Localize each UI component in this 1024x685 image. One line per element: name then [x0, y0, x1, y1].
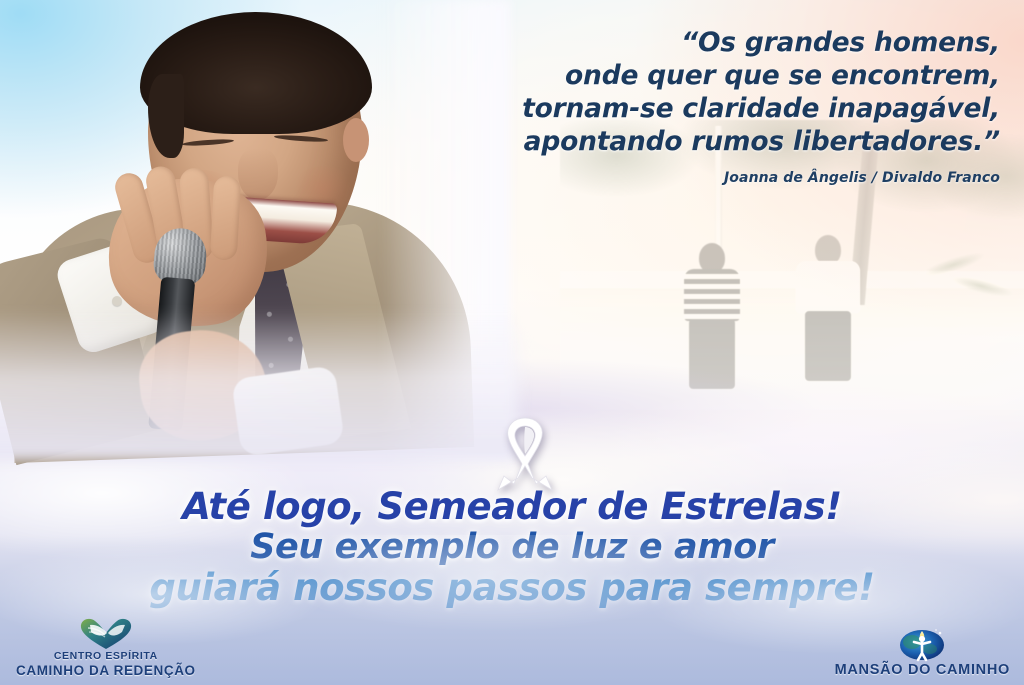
quote-block: “Os grandes homens, onde quer que se enc…	[440, 26, 1000, 186]
headline-line-1: Até logo, Semeador de Estrelas!	[0, 486, 1024, 527]
person-legs	[805, 311, 851, 381]
nose	[238, 148, 278, 200]
person-striped-shirt	[682, 243, 742, 393]
quote-author: Joanna de Ângelis / Divaldo Franco	[440, 170, 1000, 186]
logo-mansao-do-caminho[interactable]: MANSÃO DO CAMINHO	[835, 622, 1010, 679]
hands-heart-icon	[78, 616, 134, 650]
globe-figure-flame-icon	[896, 622, 948, 662]
quote-line-1: “Os grandes homens,	[440, 26, 1000, 59]
quote-line-4: apontando rumos libertadores.”	[440, 125, 1000, 158]
cuff-button	[112, 296, 122, 306]
logo-left-line-1: CENTRO ESPÍRITA	[54, 650, 158, 663]
person-torso	[796, 261, 860, 313]
logo-centro-espirita[interactable]: CENTRO ESPÍRITA CAMINHO DA REDENÇÃO	[16, 616, 196, 679]
portrait-bottom-fade	[0, 310, 520, 460]
logo-left-line-2: CAMINHO DA REDENÇÃO	[16, 663, 196, 679]
portrait-divaldo-franco	[0, 0, 500, 450]
ear	[343, 118, 369, 162]
person-torso	[684, 269, 740, 321]
logo-right-line-2: MANSÃO DO CAMINHO	[835, 662, 1010, 679]
finger	[210, 175, 241, 260]
quote-line-2: onde quer que se encontrem,	[440, 59, 1000, 92]
quote-line-3: tornam-se claridade inapagável,	[440, 92, 1000, 125]
mourning-ribbon-icon	[484, 412, 566, 496]
person-legs	[689, 319, 735, 389]
hair	[140, 12, 372, 134]
person-white-shirt	[795, 235, 861, 393]
memorial-poster: “Os grandes homens, onde quer que se enc…	[0, 0, 1024, 685]
